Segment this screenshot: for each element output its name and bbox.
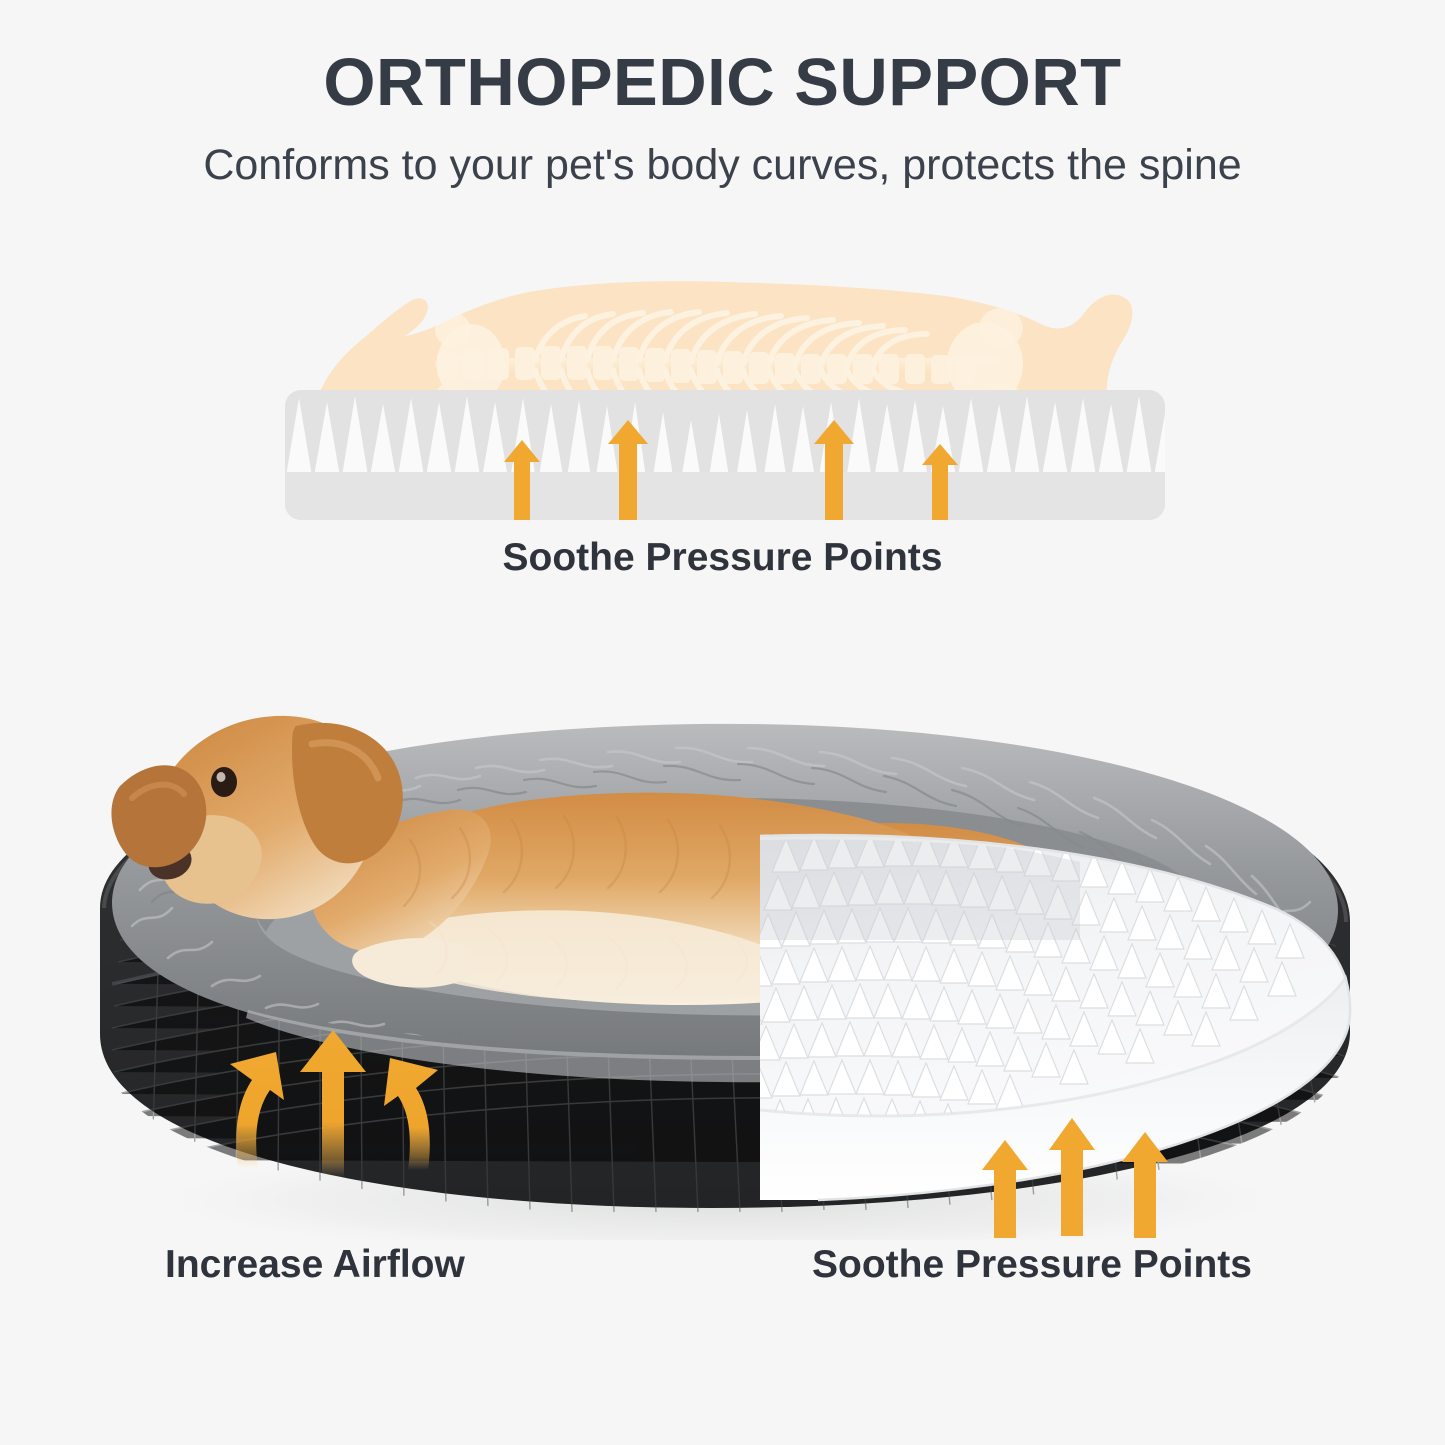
pressure-points-caption-top: Soothe Pressure Points: [0, 536, 1445, 580]
base-foam-block: [285, 390, 1165, 520]
dog-eye-left: [211, 767, 237, 797]
cross-section-diagram: [285, 272, 1165, 520]
airflow-caption: Increase Airflow: [165, 1243, 465, 1287]
pressure-points-caption-bottom: Soothe Pressure Points: [812, 1243, 1252, 1287]
page-subtitle: Conforms to your pet's body curves, prot…: [0, 140, 1445, 192]
page-title: ORTHOPEDIC SUPPORT: [0, 48, 1445, 118]
product-photo: [60, 640, 1390, 1240]
infographic-page: ORTHOPEDIC SUPPORT Conforms to your pet'…: [0, 0, 1445, 1445]
